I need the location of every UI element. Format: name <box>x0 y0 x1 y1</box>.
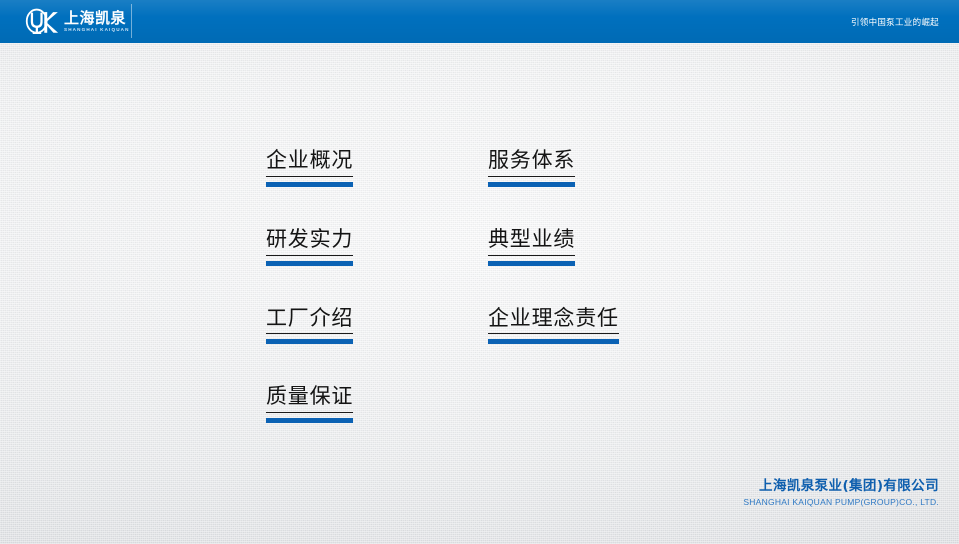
menu-item-label: 企业理念责任 <box>488 306 619 335</box>
menu-item-label: 企业概况 <box>266 148 353 177</box>
slide-menu: 企业概况 研发实力 工厂介绍 质量保证 服务体系 典型业绩 <box>266 148 736 423</box>
brand-logo[interactable]: 上海凯泉 SHANGHAI KAIQUAN <box>22 6 130 37</box>
menu-item-corporate-philosophy-responsibility[interactable]: 企业理念责任 <box>488 306 619 345</box>
menu-item-accent-bar <box>488 182 575 187</box>
menu-item-company-overview[interactable]: 企业概况 <box>266 148 353 187</box>
menu-item-accent-bar <box>488 339 619 344</box>
menu-item-typical-achievements[interactable]: 典型业绩 <box>488 227 575 266</box>
menu-item-label: 工厂介绍 <box>266 306 353 335</box>
menu-item-label: 服务体系 <box>488 148 575 177</box>
menu-item-accent-bar <box>488 261 575 266</box>
menu-item-service-system[interactable]: 服务体系 <box>488 148 575 187</box>
menu-item-accent-bar <box>266 261 353 266</box>
presentation-slide: 上海凯泉 SHANGHAI KAIQUAN 引领中国泵工业的崛起 企业概况 研发… <box>0 0 959 544</box>
header-divider <box>131 4 132 38</box>
header-gradient-overlay <box>0 0 959 43</box>
menu-item-rd-strength[interactable]: 研发实力 <box>266 227 353 266</box>
slide-header: 上海凯泉 SHANGHAI KAIQUAN 引领中国泵工业的崛起 <box>0 0 959 43</box>
menu-column-right: 服务体系 典型业绩 企业理念责任 <box>488 148 736 423</box>
menu-item-accent-bar <box>266 339 353 344</box>
menu-item-label: 质量保证 <box>266 384 353 413</box>
kaiquan-monogram-icon <box>22 8 60 36</box>
brand-name-en: SHANGHAI KAIQUAN <box>64 28 130 33</box>
brand-name-cn: 上海凯泉 <box>64 11 130 26</box>
footer-company-name-en: SHANGHAI KAIQUAN PUMP(GROUP)CO., LTD. <box>743 497 939 507</box>
brand-wordmark: 上海凯泉 SHANGHAI KAIQUAN <box>64 11 130 33</box>
menu-item-factory-introduction[interactable]: 工厂介绍 <box>266 306 353 345</box>
menu-item-accent-bar <box>266 182 353 187</box>
menu-item-label: 典型业绩 <box>488 227 575 256</box>
header-tagline: 引领中国泵工业的崛起 <box>851 0 939 43</box>
menu-item-label: 研发实力 <box>266 227 353 256</box>
slide-footer: 上海凯泉泵业(集团)有限公司 SHANGHAI KAIQUAN PUMP(GRO… <box>743 479 939 507</box>
menu-item-accent-bar <box>266 418 353 423</box>
menu-item-quality-assurance[interactable]: 质量保证 <box>266 384 353 423</box>
footer-company-name-cn: 上海凯泉泵业(集团)有限公司 <box>743 479 939 495</box>
menu-column-left: 企业概况 研发实力 工厂介绍 质量保证 <box>266 148 488 423</box>
